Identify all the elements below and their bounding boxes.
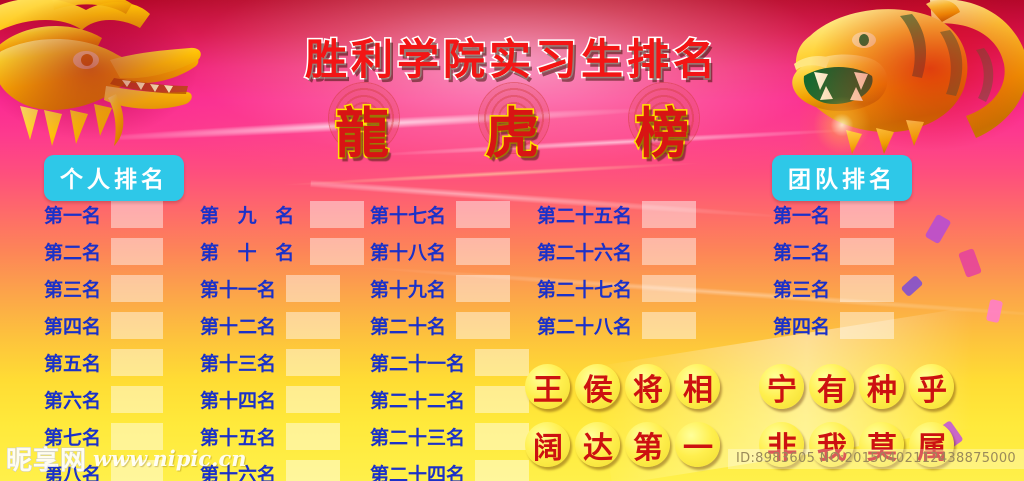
rank-name-blank[interactable] (642, 312, 696, 339)
rank-label: 第十七名 (370, 201, 446, 228)
slogan-char-text: 相 (683, 365, 713, 409)
rank-name-blank[interactable] (456, 238, 510, 265)
calligraphy-char-board: 榜 (620, 88, 704, 168)
rank-row: 第二名 (44, 233, 163, 270)
rank-label: 第二十八名 (537, 312, 632, 339)
rank-label: 第 十 名 (200, 238, 300, 265)
slogan-char-text: 第 (633, 423, 663, 467)
rank-label: 第四名 (773, 312, 830, 339)
rank-name-blank[interactable] (642, 238, 696, 265)
rank-row: 第二十二名 (370, 381, 529, 418)
badge-personal-ranking: 个人排名 (44, 155, 184, 201)
slogan-char: 达 (574, 421, 622, 469)
rank-label: 第二名 (44, 238, 101, 265)
rank-label: 第 九 名 (200, 201, 300, 228)
rank-name-blank[interactable] (111, 275, 163, 302)
rank-row: 第三名 (773, 270, 894, 307)
rank-name-blank[interactable] (840, 201, 894, 228)
slogan-phrase-left: 阔 达 第 一 (524, 421, 724, 469)
rank-row: 第十八名 (370, 233, 529, 270)
calligraphy-text: 龍 (335, 89, 389, 168)
rank-label: 第四名 (44, 312, 101, 339)
rank-row: 第 九 名 (200, 196, 364, 233)
rank-name-blank[interactable] (840, 312, 894, 339)
slogan-char: 王 (524, 363, 572, 411)
slogan-char-text: 乎 (917, 365, 947, 409)
rank-row: 第四名 (773, 307, 894, 344)
rank-label: 第二名 (773, 238, 830, 265)
rank-label: 第六名 (44, 386, 101, 413)
rank-label: 第一名 (44, 201, 101, 228)
slogan-char: 宁 (758, 363, 806, 411)
slogan-char: 一 (674, 421, 722, 469)
rank-name-blank[interactable] (286, 460, 340, 481)
slogan-char: 将 (624, 363, 672, 411)
rank-row: 第二十七名 (537, 270, 696, 307)
rank-name-blank[interactable] (642, 275, 696, 302)
rank-row: 第 十 名 (200, 233, 364, 270)
slogan-char-text: 有 (817, 365, 847, 409)
rank-label: 第三名 (44, 275, 101, 302)
rank-name-blank[interactable] (475, 349, 529, 376)
title-container: 胜利学院实习生排名 (0, 26, 1024, 87)
rank-row: 第二名 (773, 233, 894, 270)
rank-row: 第二十四名 (370, 455, 529, 481)
rank-label: 第一名 (773, 201, 830, 228)
calligraphy-char-tiger: 虎 (470, 88, 554, 168)
slogan-line-1: 王 侯 将 相 宁 有 种 乎 (524, 358, 958, 416)
rank-name-blank[interactable] (840, 275, 894, 302)
rank-label: 第二十一名 (370, 349, 465, 376)
rank-label: 第二十五名 (537, 201, 632, 228)
rank-row: 第二十五名 (537, 196, 696, 233)
rank-label: 第五名 (44, 349, 101, 376)
rank-row: 第六名 (44, 381, 163, 418)
rank-row: 第一名 (44, 196, 163, 233)
slogan-char-text: 侯 (583, 365, 613, 409)
rank-label: 第十四名 (200, 386, 276, 413)
rank-name-blank[interactable] (286, 275, 340, 302)
rank-label: 第十九名 (370, 275, 446, 302)
rank-name-blank[interactable] (286, 423, 340, 450)
rank-row: 第十一名 (200, 270, 364, 307)
slogan-char-text: 阔 (533, 423, 563, 467)
rank-row: 第二十一名 (370, 344, 529, 381)
calligraphy-text: 虎 (485, 89, 539, 168)
personal-rank-column-4: 第二十五名 第二十六名 第二十七名 第二十八名 (537, 196, 696, 344)
rank-label: 第十一名 (200, 275, 276, 302)
rank-row: 第十二名 (200, 307, 364, 344)
slogan-char-text: 王 (533, 365, 563, 409)
rank-name-blank[interactable] (111, 201, 163, 228)
slogan-phrase-left: 王 侯 将 相 (524, 363, 724, 411)
rank-row: 第十七名 (370, 196, 529, 233)
rank-name-blank[interactable] (111, 386, 163, 413)
slogan-char: 相 (674, 363, 722, 411)
rank-label: 第十二名 (200, 312, 276, 339)
rank-label: 第十三名 (200, 349, 276, 376)
image-id-watermark: ID:8983605 NO:20150402112438875000 (728, 449, 1024, 469)
rank-row: 第十四名 (200, 381, 364, 418)
rank-row: 第二十名 (370, 307, 529, 344)
personal-rank-column-2: 第 九 名 第 十 名 第十一名 第十二名 第十三名 第十四名 第十五名 第十六… (200, 196, 364, 481)
slogan-char-text: 将 (633, 365, 663, 409)
rank-name-blank[interactable] (286, 386, 340, 413)
rank-label: 第二十三名 (370, 423, 465, 450)
rank-label: 第二十七名 (537, 275, 632, 302)
slogan-char-text: 达 (583, 423, 613, 467)
rank-label: 第三名 (773, 275, 830, 302)
rank-name-blank[interactable] (475, 386, 529, 413)
rank-name-blank[interactable] (456, 275, 510, 302)
rank-name-blank[interactable] (286, 312, 340, 339)
rank-name-blank[interactable] (310, 201, 364, 228)
site-watermark-name: 昵享网 (6, 440, 87, 477)
rank-row: 第四名 (44, 307, 163, 344)
rank-name-blank[interactable] (475, 460, 529, 481)
slogan-char: 阔 (524, 421, 572, 469)
rank-label: 第二十六名 (537, 238, 632, 265)
rank-row: 第三名 (44, 270, 163, 307)
personal-rank-column-3: 第十七名 第十八名 第十九名 第二十名 第二十一名 第二十二名 第二十三名 第二… (370, 196, 529, 481)
badge-team-ranking: 团队排名 (772, 155, 912, 201)
rank-name-blank[interactable] (111, 312, 163, 339)
slogan-char: 乎 (908, 363, 956, 411)
rank-name-blank[interactable] (840, 238, 894, 265)
rank-row: 第二十三名 (370, 418, 529, 455)
rank-label: 第十八名 (370, 238, 446, 265)
rank-name-blank[interactable] (310, 238, 364, 265)
rank-row: 第十九名 (370, 270, 529, 307)
rank-name-blank[interactable] (111, 238, 163, 265)
rank-row: 第二十六名 (537, 233, 696, 270)
site-watermark-url: www.nipic.cn (93, 446, 247, 471)
rank-label: 第二十二名 (370, 386, 465, 413)
rank-label: 第二十四名 (370, 460, 465, 481)
rank-row: 第五名 (44, 344, 163, 381)
slogan-char: 第 (624, 421, 672, 469)
personal-rank-column-1: 第一名 第二名 第三名 第四名 第五名 第六名 第七名 第八名 (44, 196, 163, 481)
rank-name-blank[interactable] (475, 423, 529, 450)
rank-name-blank[interactable] (286, 349, 340, 376)
rank-name-blank[interactable] (456, 312, 510, 339)
site-watermark: 昵享网 www.nipic.cn (6, 440, 247, 477)
slogan-char-text: 一 (683, 423, 713, 467)
calligraphy-text: 榜 (635, 89, 689, 168)
team-rank-column: 第一名 第二名 第三名 第四名 (773, 196, 894, 344)
ranking-poster: 胜利学院实习生排名 龍 虎 榜 个人排名 团队排名 第一名 第二名 第三名 第四… (0, 0, 1024, 481)
slogan-char-text: 宁 (767, 365, 797, 409)
calligraphy-char-dragon: 龍 (320, 88, 404, 168)
slogan-phrase-right: 宁 有 种 乎 (758, 363, 958, 411)
rank-name-blank[interactable] (111, 349, 163, 376)
slogan-char-text: 种 (867, 365, 897, 409)
rank-row: 第二十八名 (537, 307, 696, 344)
rank-row: 第十三名 (200, 344, 364, 381)
rank-name-blank[interactable] (642, 201, 696, 228)
rank-row: 第一名 (773, 196, 894, 233)
slogan-char: 侯 (574, 363, 622, 411)
page-title: 胜利学院实习生排名 (305, 26, 719, 87)
rank-label: 第二十名 (370, 312, 446, 339)
rank-name-blank[interactable] (456, 201, 510, 228)
slogan-char: 种 (858, 363, 906, 411)
slogan-char: 有 (808, 363, 856, 411)
